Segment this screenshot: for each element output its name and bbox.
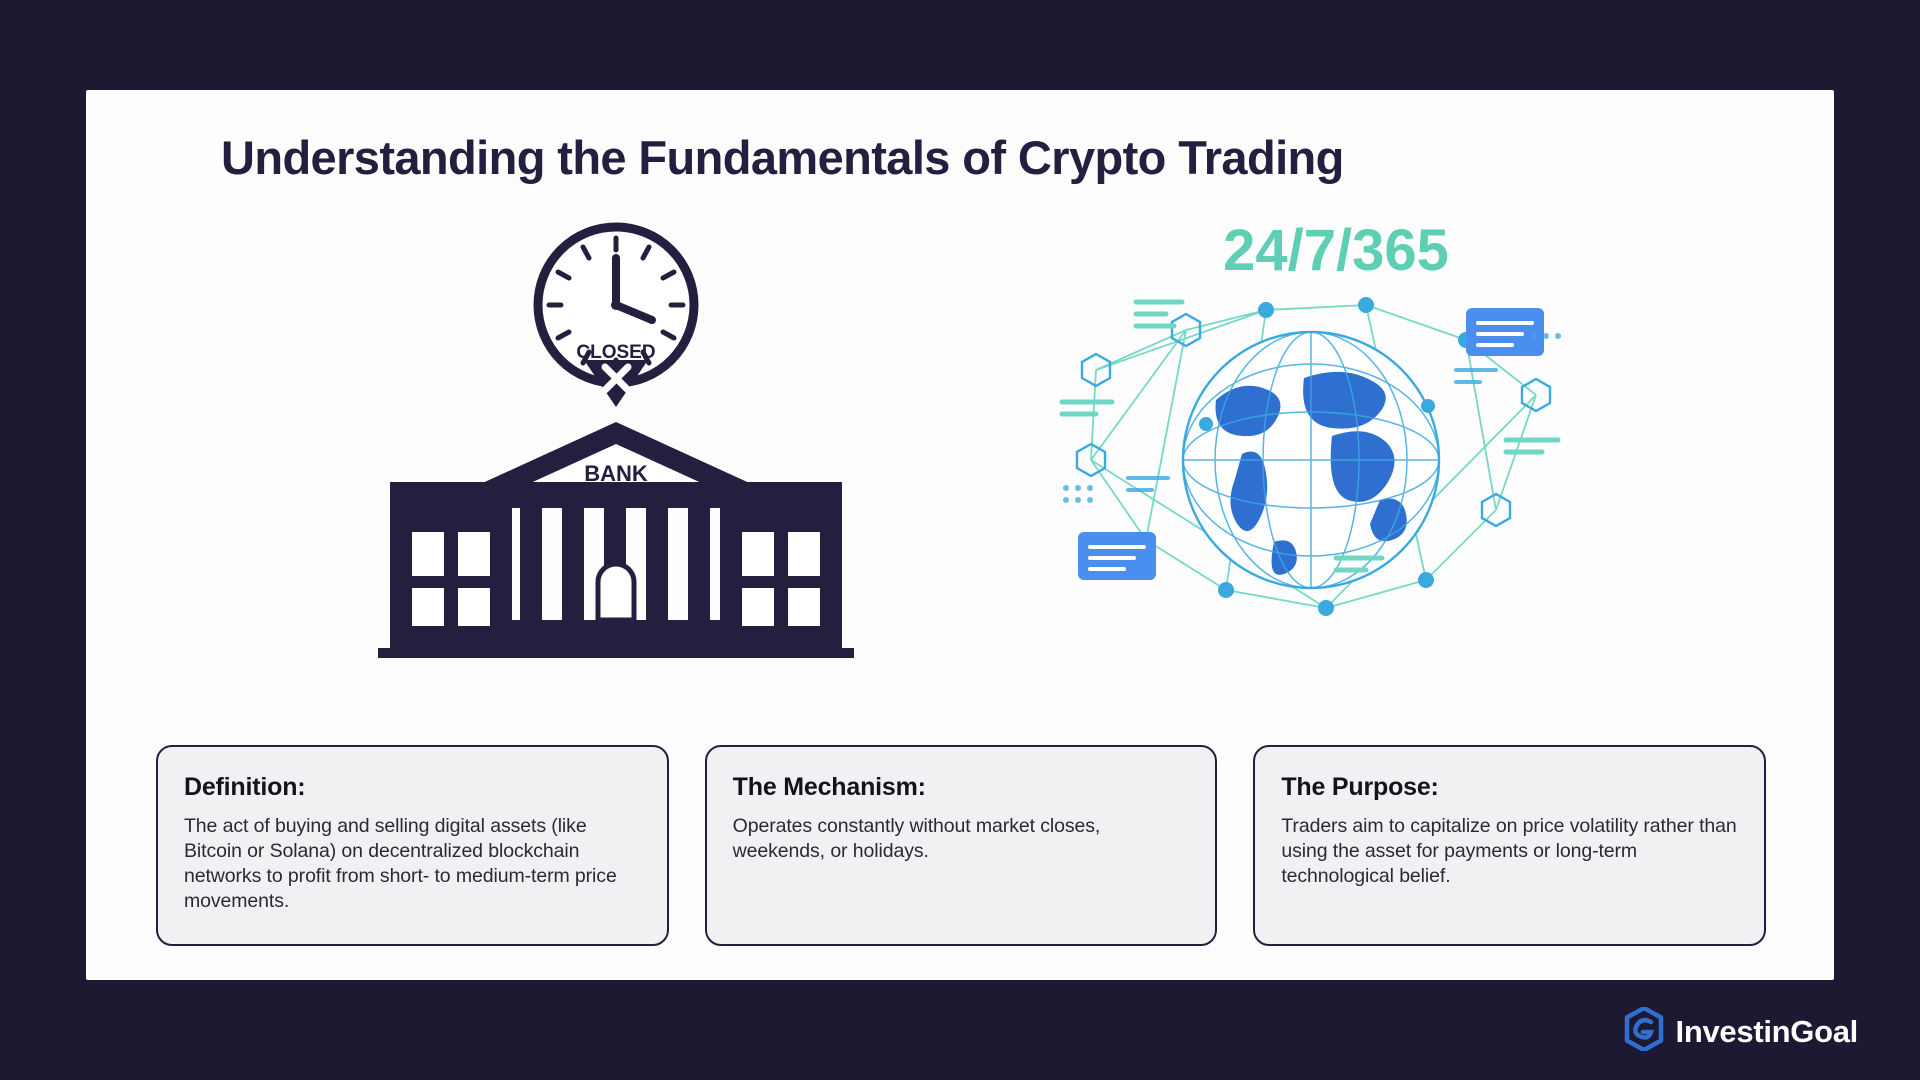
clock-closed-label: CLOSED [576,342,655,363]
info-card-definition: Definition: The act of buying and sellin… [156,745,669,946]
info-card-body: Traders aim to capitalize on price volat… [1281,814,1738,889]
global-network-illustration: 24/7/365 [1036,210,1596,710]
globe [1183,332,1439,588]
data-card-top-right [1466,308,1544,356]
info-card-mechanism: The Mechanism: Operates constantly witho… [705,745,1218,946]
brand-name: InvestinGoal [1676,1014,1858,1050]
bank-base [378,648,854,658]
info-card-row: Definition: The act of buying and sellin… [156,745,1766,946]
investingoal-mark-icon [1624,1007,1664,1056]
illustration-row: CLOSED BANK [86,210,1834,710]
content-panel: Understanding the Fundamentals of Crypto… [86,90,1834,980]
uptime-headline: 24/7/365 [1223,218,1449,283]
info-card-purpose: The Purpose: Traders aim to capitalize o… [1253,745,1766,946]
brand-logo: InvestinGoal [1624,1007,1858,1056]
info-card-body: Operates constantly without market close… [733,814,1190,864]
page-title: Understanding the Fundamentals of Crypto… [221,130,1761,185]
info-card-title: The Mechanism: [733,773,1190,802]
data-card-bottom-left [1078,532,1156,580]
info-card-body: The act of buying and selling digital as… [184,814,641,914]
info-card-title: The Purpose: [1281,773,1738,802]
infographic-canvas: Understanding the Fundamentals of Crypto… [0,0,1920,1080]
info-card-title: Definition: [184,773,641,802]
closed-bank-illustration: CLOSED BANK [336,210,896,710]
bank-entablature [390,482,842,508]
